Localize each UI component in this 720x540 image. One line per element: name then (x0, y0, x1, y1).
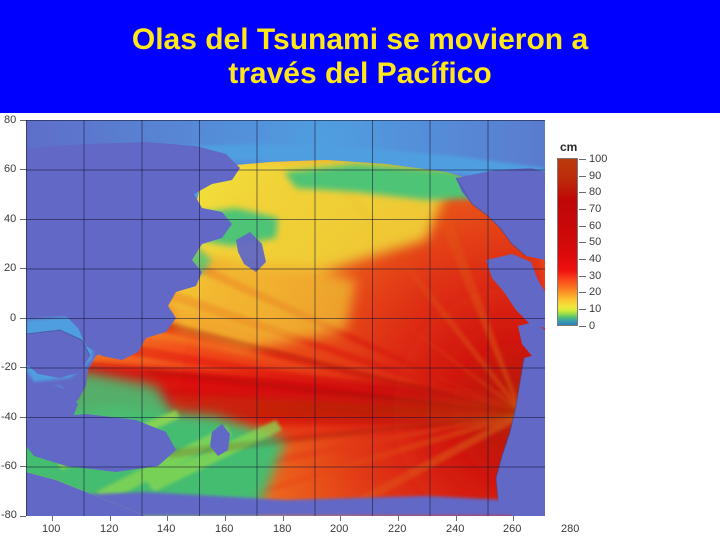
y-tick-mark (20, 516, 26, 517)
y-tick-label: 20 (4, 262, 16, 274)
colorbar-tick-label: 30 (589, 270, 601, 282)
colorbar-unit-label: cm (560, 140, 577, 154)
y-tick-label: -60 (1, 460, 17, 472)
x-tick-mark (283, 516, 284, 521)
colorbar-tick-label: 40 (589, 253, 601, 265)
x-tick-label: 220 (388, 523, 406, 535)
colorbar-tick-label: 0 (589, 320, 595, 332)
y-tick-mark (20, 367, 26, 368)
title-banner: Olas del Tsunami se movieron a través de… (0, 0, 720, 113)
tsunami-amplitude-figure: 80 60 40 20 0 -20 -40 -60 -80 100 120 14… (0, 113, 720, 540)
colorbar-gradient (557, 158, 578, 326)
colorbar-tick-label: 10 (589, 303, 601, 315)
title-line-2: través del Pacífico (228, 57, 491, 91)
y-tick-mark (20, 417, 26, 418)
colorbar-tick-mark (579, 326, 586, 327)
colorbar-tick-mark (579, 209, 586, 210)
x-tick-label: 160 (215, 523, 233, 535)
colorbar-tick-label: 80 (589, 186, 601, 198)
x-tick-mark (398, 516, 399, 521)
y-tick-mark (20, 219, 26, 220)
title-line-1: Olas del Tsunami se movieron a (132, 23, 588, 57)
colorbar-tick-mark (579, 176, 586, 177)
y-tick-mark (20, 169, 26, 170)
colorbar-tick-label: 50 (589, 236, 601, 248)
colorbar-tick-label: 90 (589, 170, 601, 182)
x-tick-mark (110, 516, 111, 521)
y-tick-mark (20, 318, 26, 319)
x-tick-label: 200 (330, 523, 348, 535)
x-tick-mark (513, 516, 514, 521)
colorbar-tick-label: 70 (589, 203, 601, 215)
colorbar-tick-mark (579, 192, 586, 193)
x-tick-mark (225, 516, 226, 521)
y-tick-label: 0 (10, 312, 16, 324)
y-tick-label: 40 (4, 213, 16, 225)
x-tick-label: 280 (561, 523, 579, 535)
y-tick-mark (20, 120, 26, 121)
x-tick-label: 120 (100, 523, 118, 535)
colorbar-tick-mark (579, 309, 586, 310)
colorbar-tick-label: 60 (589, 220, 601, 232)
colorbar-tick-mark (579, 292, 586, 293)
y-tick-label: -80 (1, 509, 17, 521)
colorbar-tick-mark (579, 259, 586, 260)
x-tick-mark (456, 516, 457, 521)
colorbar-tick-mark (579, 242, 586, 243)
x-tick-mark (340, 516, 341, 521)
y-tick-label: -20 (1, 361, 17, 373)
x-tick-label: 180 (273, 523, 291, 535)
pacific-map-plot (26, 120, 545, 516)
x-tick-mark (167, 516, 168, 521)
x-tick-label: 100 (42, 523, 60, 535)
y-tick-mark (20, 268, 26, 269)
colorbar-tick-label: 20 (589, 286, 601, 298)
y-tick-label: 60 (4, 163, 16, 175)
y-tick-label: 80 (4, 114, 16, 126)
colorbar-tick-mark (579, 159, 586, 160)
y-tick-label: -40 (1, 411, 17, 423)
colorbar-tick-mark (579, 226, 586, 227)
map-raster (26, 120, 545, 516)
x-tick-label: 260 (503, 523, 521, 535)
x-tick-label: 240 (446, 523, 464, 535)
colorbar-tick-label: 100 (589, 153, 607, 165)
colorbar-tick-mark (579, 276, 586, 277)
y-tick-mark (20, 466, 26, 467)
x-tick-label: 140 (157, 523, 175, 535)
x-tick-mark (52, 516, 53, 521)
